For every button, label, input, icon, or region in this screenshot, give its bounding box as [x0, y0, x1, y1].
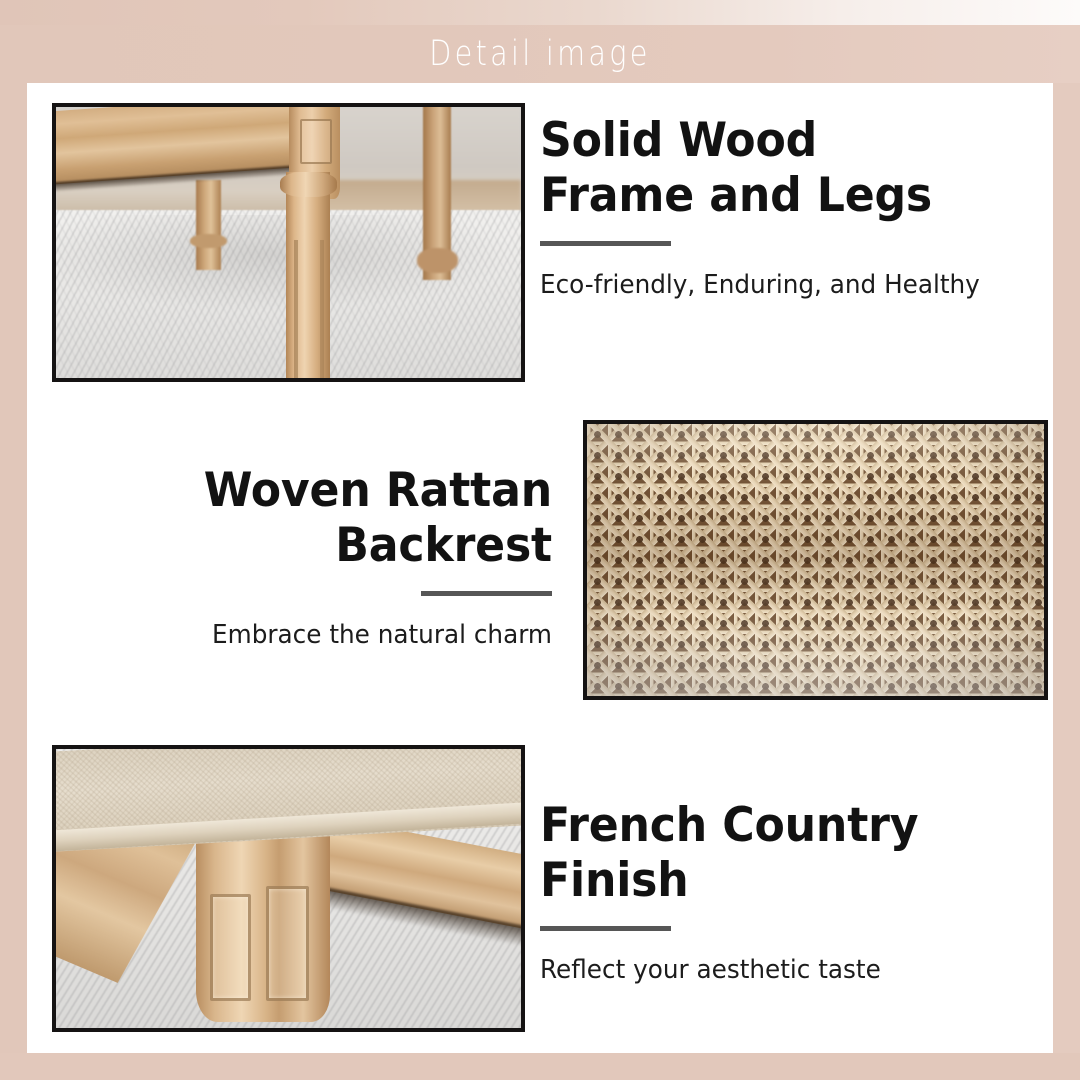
feature-heading-solid-wood: Solid Wood Frame and Legs [540, 113, 1010, 223]
feature-text-woven-rattan: Woven Rattan Backrest Embrace the natura… [27, 463, 552, 651]
feature-text-french-country: French Country Finish Reflect your aesth… [540, 798, 1045, 986]
header-banner: Detail image [0, 25, 1080, 83]
heading-line-2: Frame and Legs [540, 168, 932, 223]
detail-image-page: Detail image Solid Wood Frame and Legs [0, 0, 1080, 1080]
feature-photo-french-country-corner [52, 745, 525, 1032]
heading-rule [421, 591, 552, 596]
heading-line-1: Solid Wood [540, 113, 817, 168]
photo-scene-rattan [587, 424, 1044, 696]
frame-border-left [0, 25, 27, 1080]
feature-photo-solid-wood-legs [52, 103, 525, 382]
feature-subtitle-french-country: Reflect your aesthetic taste [540, 954, 1020, 987]
chair-leg-right [423, 103, 451, 280]
chair-leg-middle [196, 180, 222, 269]
cane-vignette [587, 424, 1044, 696]
banner-title: Detail image [429, 37, 650, 72]
heading-rule [540, 241, 671, 246]
carved-panel-right [266, 886, 310, 1001]
content-canvas: Solid Wood Frame and Legs Eco-friendly, … [27, 83, 1053, 1053]
feature-text-solid-wood: Solid Wood Frame and Legs Eco-friendly, … [540, 113, 1040, 301]
photo-scene-corner [56, 749, 521, 1028]
frame-border-right [1053, 83, 1080, 1080]
frame-border-bottom [0, 1053, 1080, 1080]
feature-subtitle-woven-rattan: Embrace the natural charm [53, 619, 552, 652]
top-gradient-strip [0, 0, 1080, 25]
feature-heading-french-country: French Country Finish [540, 798, 1015, 908]
feature-subtitle-solid-wood: Eco-friendly, Enduring, and Healthy [540, 269, 1015, 302]
feature-photo-rattan-webbing [583, 420, 1048, 700]
photo-scene-legs [56, 107, 521, 378]
heading-rule [540, 926, 671, 931]
carved-panel-left [210, 894, 251, 1002]
feature-heading-woven-rattan: Woven Rattan Backrest [59, 463, 553, 573]
carved-corner-post [196, 827, 331, 1022]
chair-leg-front-turned [286, 172, 330, 382]
